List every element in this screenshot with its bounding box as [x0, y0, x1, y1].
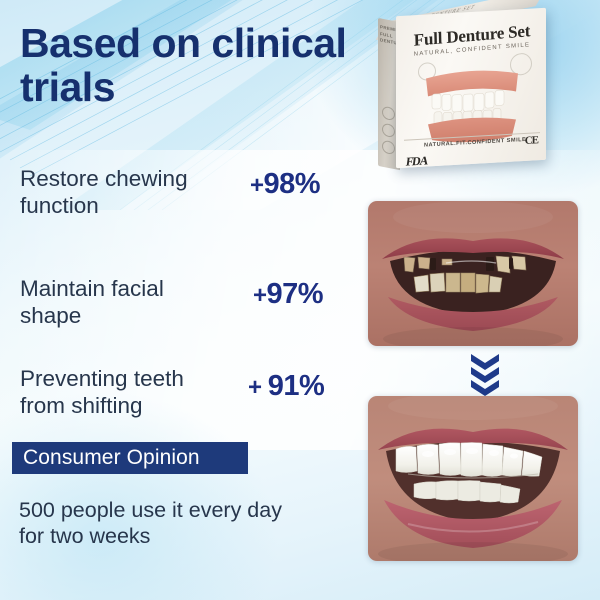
feature-row: Preventing teeth from shifting + 91%: [0, 342, 352, 430]
arrow-down-chevrons-icon: [462, 352, 508, 396]
feature-value: +97%: [253, 278, 323, 311]
consumer-opinion-label: Consumer Opinion: [12, 446, 200, 470]
product-box-strip-text: NATURAL.FIT.CONFIDENT SMILE: [424, 137, 526, 149]
fda-logo-icon: FDA: [405, 153, 428, 168]
feature-row: Maintain facial shape +97%: [0, 254, 352, 342]
consumer-opinion-text: 500 people use it every day for two week…: [19, 497, 349, 549]
product-box-image: FULL DENTURE SET PREMIUM FULL DENTURE Fu…: [378, 6, 546, 170]
feature-plus-sign: +: [253, 282, 267, 309]
certification-badge-icon: [382, 140, 395, 156]
consumer-opinion-banner: Consumer Opinion: [12, 442, 248, 474]
feature-unit: %: [299, 370, 324, 402]
before-photo: [368, 201, 578, 346]
product-box-front-face: Full Denture Set NATURAL, CONFIDENT SMIL…: [396, 8, 546, 168]
feature-number: 91: [268, 370, 299, 402]
feature-value: +98%: [250, 168, 320, 201]
page-title: Based on clinical trials: [20, 22, 365, 110]
feature-unit: %: [295, 168, 320, 200]
feature-row: Restore chewing function +98%: [0, 166, 352, 254]
certification-badge-icon: [382, 106, 395, 122]
feature-unit: %: [298, 278, 323, 310]
certification-badge-icon: [382, 123, 395, 139]
feature-number: 98: [264, 168, 295, 200]
feature-plus-sign: +: [248, 374, 268, 401]
advertisement-page: Based on clinical trials Restore chewing…: [0, 0, 600, 600]
ce-mark-icon: CE: [525, 134, 538, 147]
feature-number: 97: [267, 278, 298, 310]
product-box-spine-badges: [382, 106, 396, 160]
after-photo: [368, 396, 578, 561]
feature-label: Restore chewing function: [20, 166, 235, 220]
feature-value: + 91%: [248, 370, 324, 403]
feature-list: Restore chewing function +98% Maintain f…: [0, 166, 352, 430]
feature-label: Maintain facial shape: [20, 276, 235, 330]
feature-label: Preventing teeth from shifting: [20, 366, 235, 420]
feature-plus-sign: +: [250, 172, 264, 199]
